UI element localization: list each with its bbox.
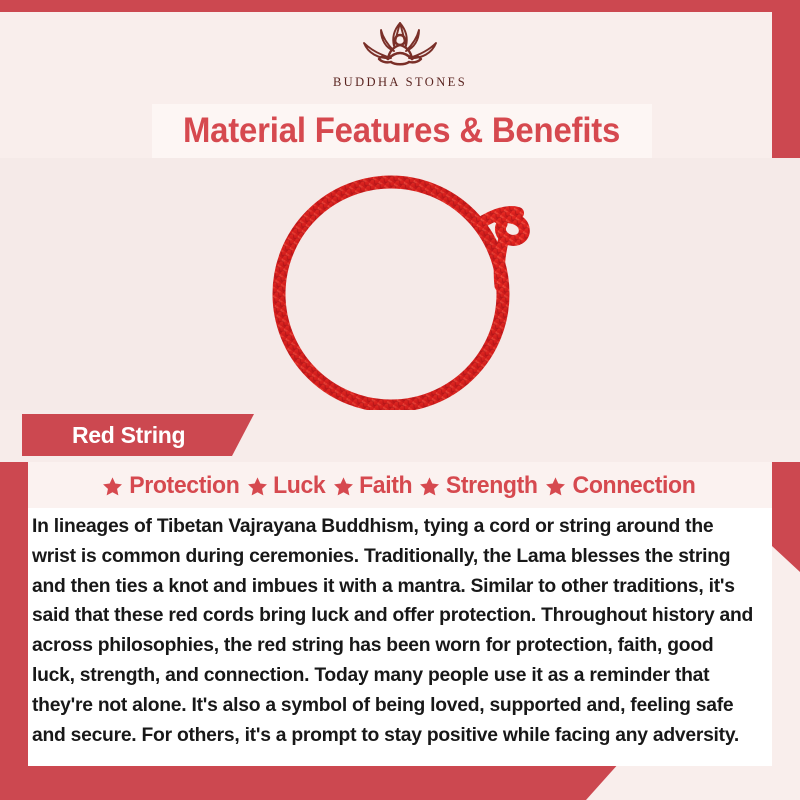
brand-name: BUDDHA STONES xyxy=(333,75,467,90)
page-title: Material Features & Benefits xyxy=(183,111,620,151)
product-label-banner: Red String xyxy=(22,414,254,456)
star-icon xyxy=(545,476,566,497)
product-photo-area xyxy=(0,158,800,418)
benefit-keyword-row: Protection Luck Faith Strength Connectio xyxy=(28,462,772,510)
benefit-keyword-connection: Connection xyxy=(545,472,698,500)
benefit-keyword-strength: Strength xyxy=(419,472,539,500)
benefit-keyword-luck: Luck xyxy=(247,472,326,500)
benefit-keyword-label: Luck xyxy=(273,472,325,500)
benefit-keyword-label: Protection xyxy=(129,472,239,500)
star-icon xyxy=(333,476,354,497)
benefit-keyword-faith: Faith xyxy=(333,472,413,500)
page-title-plate: Material Features & Benefits xyxy=(152,104,652,158)
star-icon xyxy=(247,476,268,497)
benefit-keyword-protection: Protection xyxy=(102,472,242,500)
description-paragraph: In lineages of Tibetan Vajrayana Buddhis… xyxy=(32,512,760,750)
product-label: Red String xyxy=(72,422,185,449)
description-card: In lineages of Tibetan Vajrayana Buddhis… xyxy=(28,508,772,766)
infographic-page: BUDDHA STONES Material Features & Benefi… xyxy=(0,0,800,800)
bottom-accent-bar xyxy=(0,762,620,800)
brand-header: BUDDHA STONES xyxy=(0,12,800,104)
star-icon xyxy=(102,476,123,497)
benefit-keyword-label: Faith xyxy=(359,472,412,500)
benefit-keyword-label: Strength xyxy=(446,472,538,500)
red-string-bracelet-image xyxy=(236,166,566,418)
benefit-keyword-label: Connection xyxy=(573,472,696,500)
lotus-meditation-icon xyxy=(348,16,452,74)
top-accent-bar xyxy=(0,0,800,12)
star-icon xyxy=(419,476,440,497)
